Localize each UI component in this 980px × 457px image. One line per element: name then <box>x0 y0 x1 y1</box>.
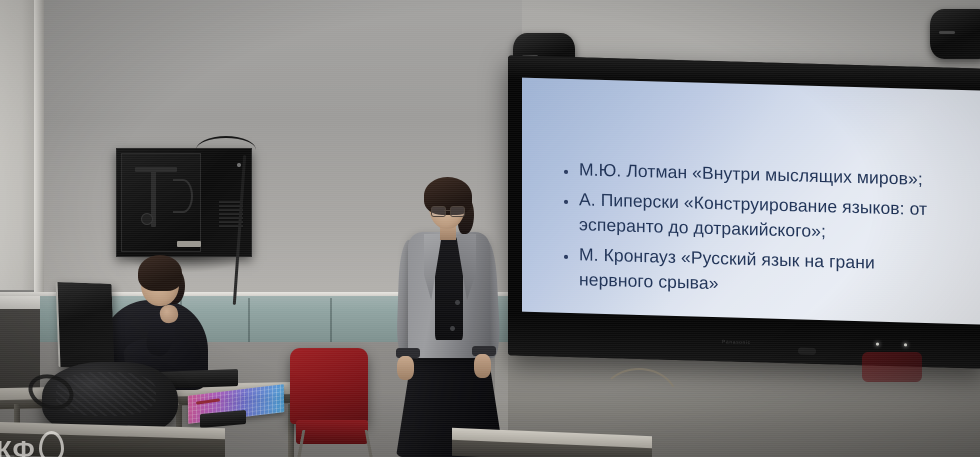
window-sill <box>0 296 40 310</box>
list-item: А. Пиперски «Конструирование языков: от … <box>564 187 980 249</box>
bullet-icon <box>564 170 568 174</box>
wainscot-seam <box>248 298 250 342</box>
cabinet-led-icon <box>237 163 241 167</box>
red-chair-back[interactable] <box>290 348 368 424</box>
status-led-icon <box>904 343 907 346</box>
slide-content: М.Ю. Лотман «Внутри мыслящих миров»; А. … <box>564 157 980 309</box>
cabinet-coil <box>173 179 193 213</box>
glasses-lens-right <box>450 206 465 217</box>
bullet-icon <box>564 255 568 259</box>
bullet-1-line-1: М.Ю. Лотман «Внутри мыслящих миров»; <box>579 157 923 192</box>
bullet-icon <box>564 200 568 204</box>
cabinet-bracket <box>135 167 177 172</box>
cabinet-knob <box>141 213 153 225</box>
wall-corner-edge <box>34 0 44 300</box>
presenter-hand-left <box>397 356 414 380</box>
classroom-photo-scene: М.Ю. Лотман «Внутри мыслящих миров»; А. … <box>0 0 980 457</box>
glasses-lens-left <box>431 206 446 217</box>
ir-receiver-icon <box>798 347 816 355</box>
red-chair-legs <box>297 430 373 457</box>
display-brand-label: Panasonic <box>722 339 751 346</box>
glasses-icon <box>431 206 463 215</box>
red-chair-far[interactable] <box>862 352 922 382</box>
blazer-button <box>455 300 460 305</box>
list-item: М. Кронгауз «Русский язык на грани нервн… <box>564 242 980 304</box>
cabinet-label <box>177 241 201 247</box>
seated-student-hair <box>138 255 182 291</box>
presenter-hand-right <box>474 354 491 378</box>
speaker-grill-icon <box>939 31 955 34</box>
monitor[interactable] <box>56 282 115 369</box>
display-screen: М.Ю. Лотман «Внутри мыслящих миров»; А. … <box>522 78 980 325</box>
watermark-emblem-icon <box>39 431 64 457</box>
presentation-display[interactable]: М.Ю. Лотман «Внутри мыслящих миров»; А. … <box>508 55 980 368</box>
wall-left <box>0 0 36 290</box>
watermark: КФ <box>0 431 64 457</box>
blazer-button <box>450 326 455 331</box>
power-led-icon <box>876 343 879 346</box>
speaker-right <box>930 9 980 59</box>
wainscot-seam <box>330 298 332 342</box>
watermark-text: КФ <box>0 437 36 457</box>
wall-cabinet <box>116 148 252 257</box>
